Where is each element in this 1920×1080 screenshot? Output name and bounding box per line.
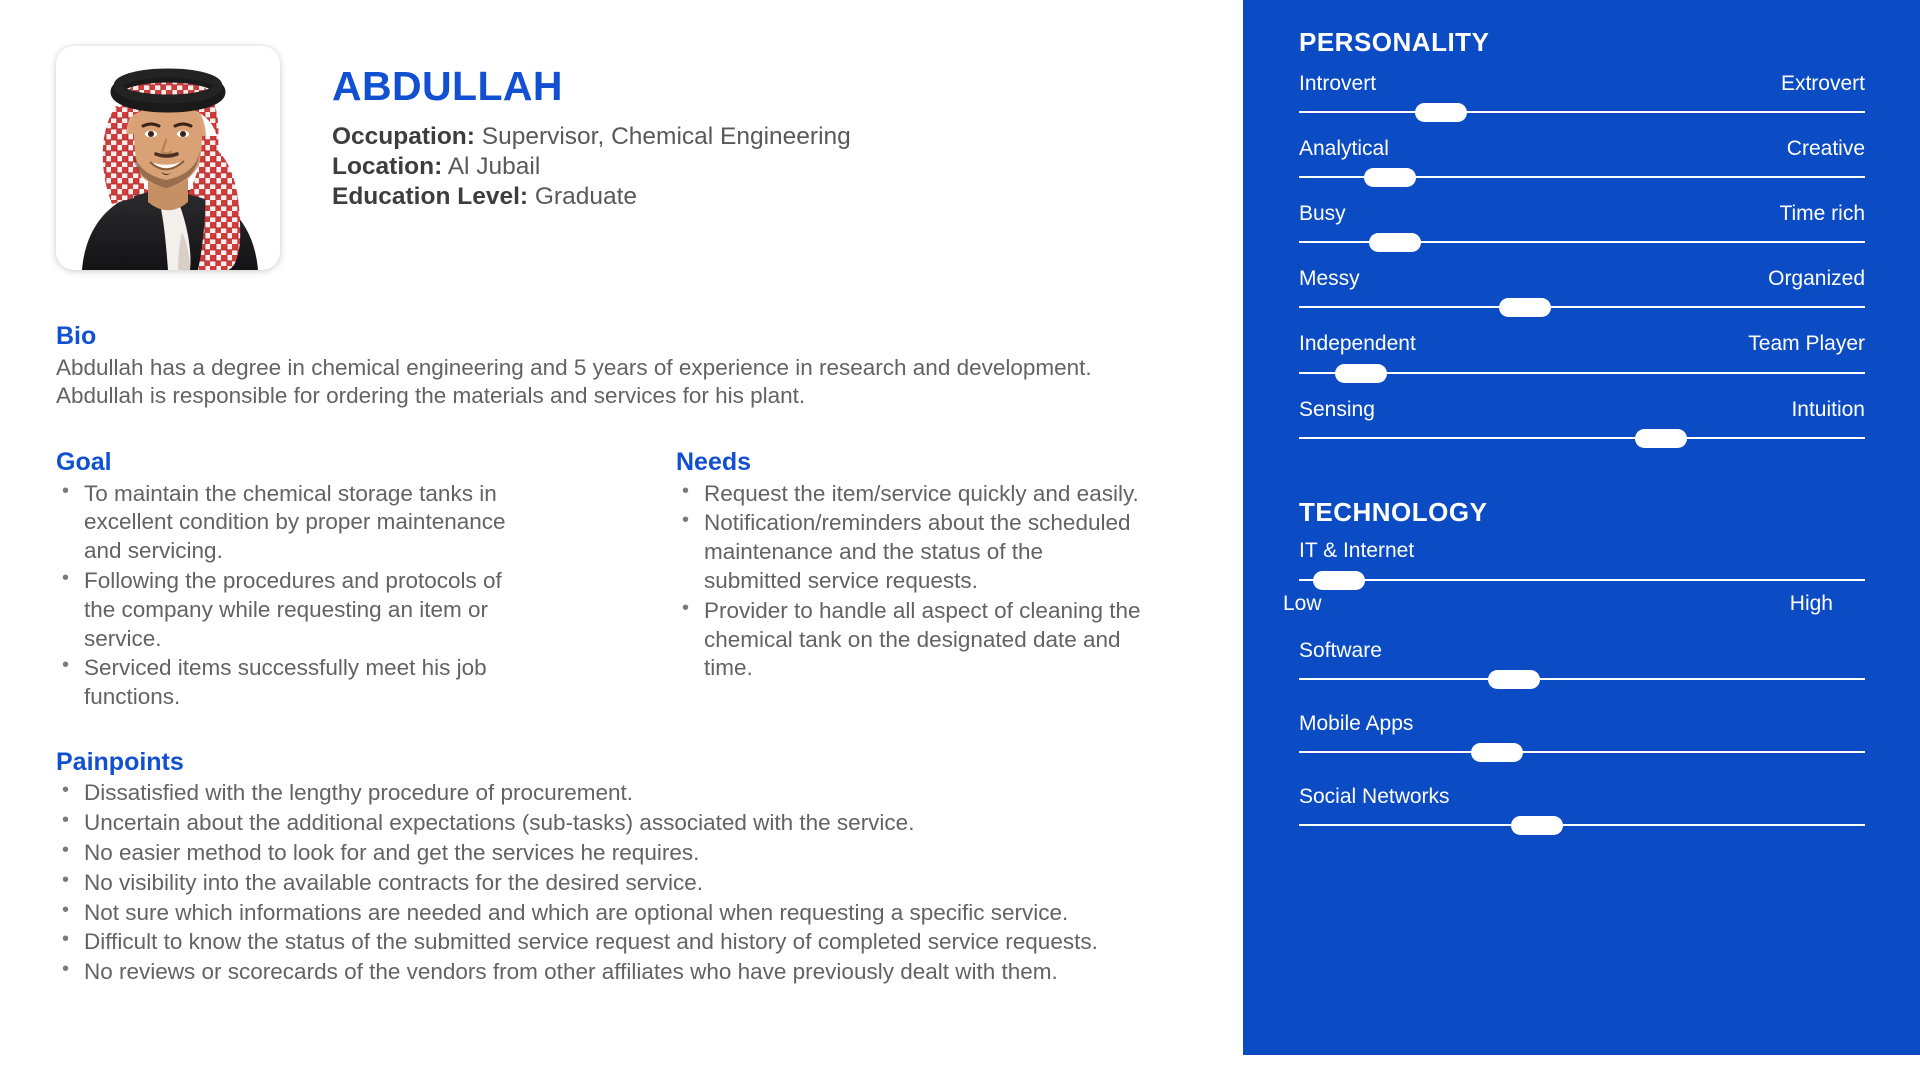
slider-line xyxy=(1299,306,1865,308)
painpoints-list: Dissatisfied with the lengthy procedure … xyxy=(56,779,1243,987)
slider-messy-organized[interactable]: Messy Organized xyxy=(1299,266,1865,317)
slider-left-label: Messy xyxy=(1299,266,1360,291)
slider-left-label: Busy xyxy=(1299,201,1346,226)
meta-education-label: Education Level: xyxy=(332,183,528,210)
personality-title: PERSONALITY xyxy=(1299,28,1865,57)
slider-right-label: Extrovert xyxy=(1781,71,1865,96)
slider-analytical-creative[interactable]: Analytical Creative xyxy=(1299,136,1865,187)
slider-knob[interactable] xyxy=(1471,743,1523,762)
slider-knob[interactable] xyxy=(1335,364,1387,383)
list-item: Provider to handle all aspect of cleanin… xyxy=(676,597,1146,683)
slider-line xyxy=(1299,751,1865,753)
slider-track[interactable] xyxy=(1299,428,1865,448)
slider-knob[interactable] xyxy=(1511,816,1563,835)
slider-track[interactable] xyxy=(1299,102,1865,122)
slider-label: Software xyxy=(1299,638,1382,663)
list-item: No easier method to look for and get the… xyxy=(56,839,1243,868)
slider-line xyxy=(1299,437,1865,439)
bio-section: Bio Abdullah has a degree in chemical en… xyxy=(56,323,1146,411)
personality-sliders: Introvert Extrovert Analytical Creative … xyxy=(1299,71,1865,448)
meta-education-value: Graduate xyxy=(535,183,637,210)
list-item: Dissatisfied with the lengthy procedure … xyxy=(56,779,1243,808)
meta-location: Location: Al Jubail xyxy=(332,153,851,181)
slider-it-internet[interactable]: IT & Internet Low High xyxy=(1299,538,1865,615)
technology-title: TECHNOLOGY xyxy=(1299,498,1865,527)
slider-track[interactable] xyxy=(1299,363,1865,383)
scale-low-label: Low xyxy=(1283,591,1322,616)
profile-main-column: ABDULLAH Occupation: Supervisor, Chemica… xyxy=(0,0,1243,1080)
needs-heading: Needs xyxy=(676,449,1196,477)
slider-line xyxy=(1299,824,1865,826)
slider-sensing-intuition[interactable]: Sensing Intuition xyxy=(1299,397,1865,448)
slider-right-label: Intuition xyxy=(1791,397,1865,422)
technology-scale-labels: Low High xyxy=(1283,591,1833,616)
slider-knob[interactable] xyxy=(1499,298,1551,317)
slider-software[interactable]: Software xyxy=(1299,638,1865,689)
list-item: Uncertain about the additional expectati… xyxy=(56,809,1243,838)
slider-social-networks[interactable]: Social Networks xyxy=(1299,784,1865,835)
slider-label: IT & Internet xyxy=(1299,538,1414,563)
list-item: Following the procedures and protocols o… xyxy=(56,567,526,653)
slider-right-label: Team Player xyxy=(1748,331,1865,356)
slider-knob[interactable] xyxy=(1369,233,1421,252)
slider-track[interactable] xyxy=(1299,297,1865,317)
slider-left-label: Introvert xyxy=(1299,71,1376,96)
slider-right-label: Time rich xyxy=(1779,201,1865,226)
slider-knob[interactable] xyxy=(1313,571,1365,590)
bio-heading: Bio xyxy=(56,323,1146,351)
avatar xyxy=(56,46,280,270)
scale-high-label: High xyxy=(1790,591,1833,616)
slider-line xyxy=(1299,678,1865,680)
person-photo-avatar-icon xyxy=(56,46,280,270)
slider-knob[interactable] xyxy=(1364,168,1416,187)
painpoints-heading: Painpoints xyxy=(56,749,1243,777)
slider-independent-teamplayer[interactable]: Independent Team Player xyxy=(1299,331,1865,382)
slider-label: Mobile Apps xyxy=(1299,711,1413,736)
goal-heading: Goal xyxy=(56,449,676,477)
slider-introvert-extrovert[interactable]: Introvert Extrovert xyxy=(1299,71,1865,122)
meta-location-value: Al Jubail xyxy=(448,153,541,180)
list-item: Serviced items successfully meet his job… xyxy=(56,654,526,712)
list-item: No reviews or scorecards of the vendors … xyxy=(56,958,1243,987)
slider-left-label: Independent xyxy=(1299,331,1416,356)
profile-header: ABDULLAH Occupation: Supervisor, Chemica… xyxy=(56,46,1243,270)
slider-left-label: Sensing xyxy=(1299,397,1375,422)
needs-list: Request the item/service quickly and eas… xyxy=(676,480,1196,684)
list-item: Notification/reminders about the schedul… xyxy=(676,509,1146,595)
slider-track[interactable] xyxy=(1299,742,1865,762)
slider-busy-timerich[interactable]: Busy Time rich xyxy=(1299,201,1865,252)
needs-section: Needs Request the item/service quickly a… xyxy=(676,449,1196,713)
slider-knob[interactable] xyxy=(1488,670,1540,689)
meta-location-label: Location: xyxy=(332,153,442,180)
painpoints-section: Painpoints Dissatisfied with the lengthy… xyxy=(56,749,1243,987)
technology-sliders: IT & Internet Low High Software Mobile A xyxy=(1299,538,1865,835)
slider-track[interactable] xyxy=(1299,232,1865,252)
bio-text: Abdullah has a degree in chemical engine… xyxy=(56,354,1146,412)
slider-mobile-apps[interactable]: Mobile Apps xyxy=(1299,711,1865,762)
slider-label: Social Networks xyxy=(1299,784,1450,809)
slider-right-label: Creative xyxy=(1787,136,1865,161)
meta-occupation: Occupation: Supervisor, Chemical Enginee… xyxy=(332,123,851,151)
slider-track[interactable] xyxy=(1299,570,1865,590)
slider-line xyxy=(1299,111,1865,113)
profile-meta-list: Occupation: Supervisor, Chemical Enginee… xyxy=(332,123,851,211)
slider-track[interactable] xyxy=(1299,669,1865,689)
list-item: No visibility into the available contrac… xyxy=(56,869,1243,898)
profile-identity: ABDULLAH Occupation: Supervisor, Chemica… xyxy=(332,46,851,213)
goal-section: Goal To maintain the chemical storage ta… xyxy=(56,449,676,713)
slider-track[interactable] xyxy=(1299,815,1865,835)
page-title: ABDULLAH xyxy=(332,66,851,107)
slider-track[interactable] xyxy=(1299,167,1865,187)
goal-list: To maintain the chemical storage tanks i… xyxy=(56,480,676,712)
slider-right-label: Organized xyxy=(1768,266,1865,291)
goal-needs-row: Goal To maintain the chemical storage ta… xyxy=(56,449,1243,713)
slider-left-label: Analytical xyxy=(1299,136,1389,161)
list-item: Request the item/service quickly and eas… xyxy=(676,480,1146,509)
list-item: To maintain the chemical storage tanks i… xyxy=(56,480,526,566)
slider-line xyxy=(1299,579,1865,581)
list-item: Not sure which informations are needed a… xyxy=(56,899,1243,928)
meta-occupation-value: Supervisor, Chemical Engineering xyxy=(482,123,851,150)
list-item: Difficult to know the status of the subm… xyxy=(56,928,1243,957)
slider-knob[interactable] xyxy=(1635,429,1687,448)
meta-education: Education Level: Graduate xyxy=(332,183,851,211)
attributes-panel: PERSONALITY Introvert Extrovert Analytic… xyxy=(1243,0,1920,1055)
meta-occupation-label: Occupation: xyxy=(332,123,475,150)
slider-knob[interactable] xyxy=(1415,103,1467,122)
